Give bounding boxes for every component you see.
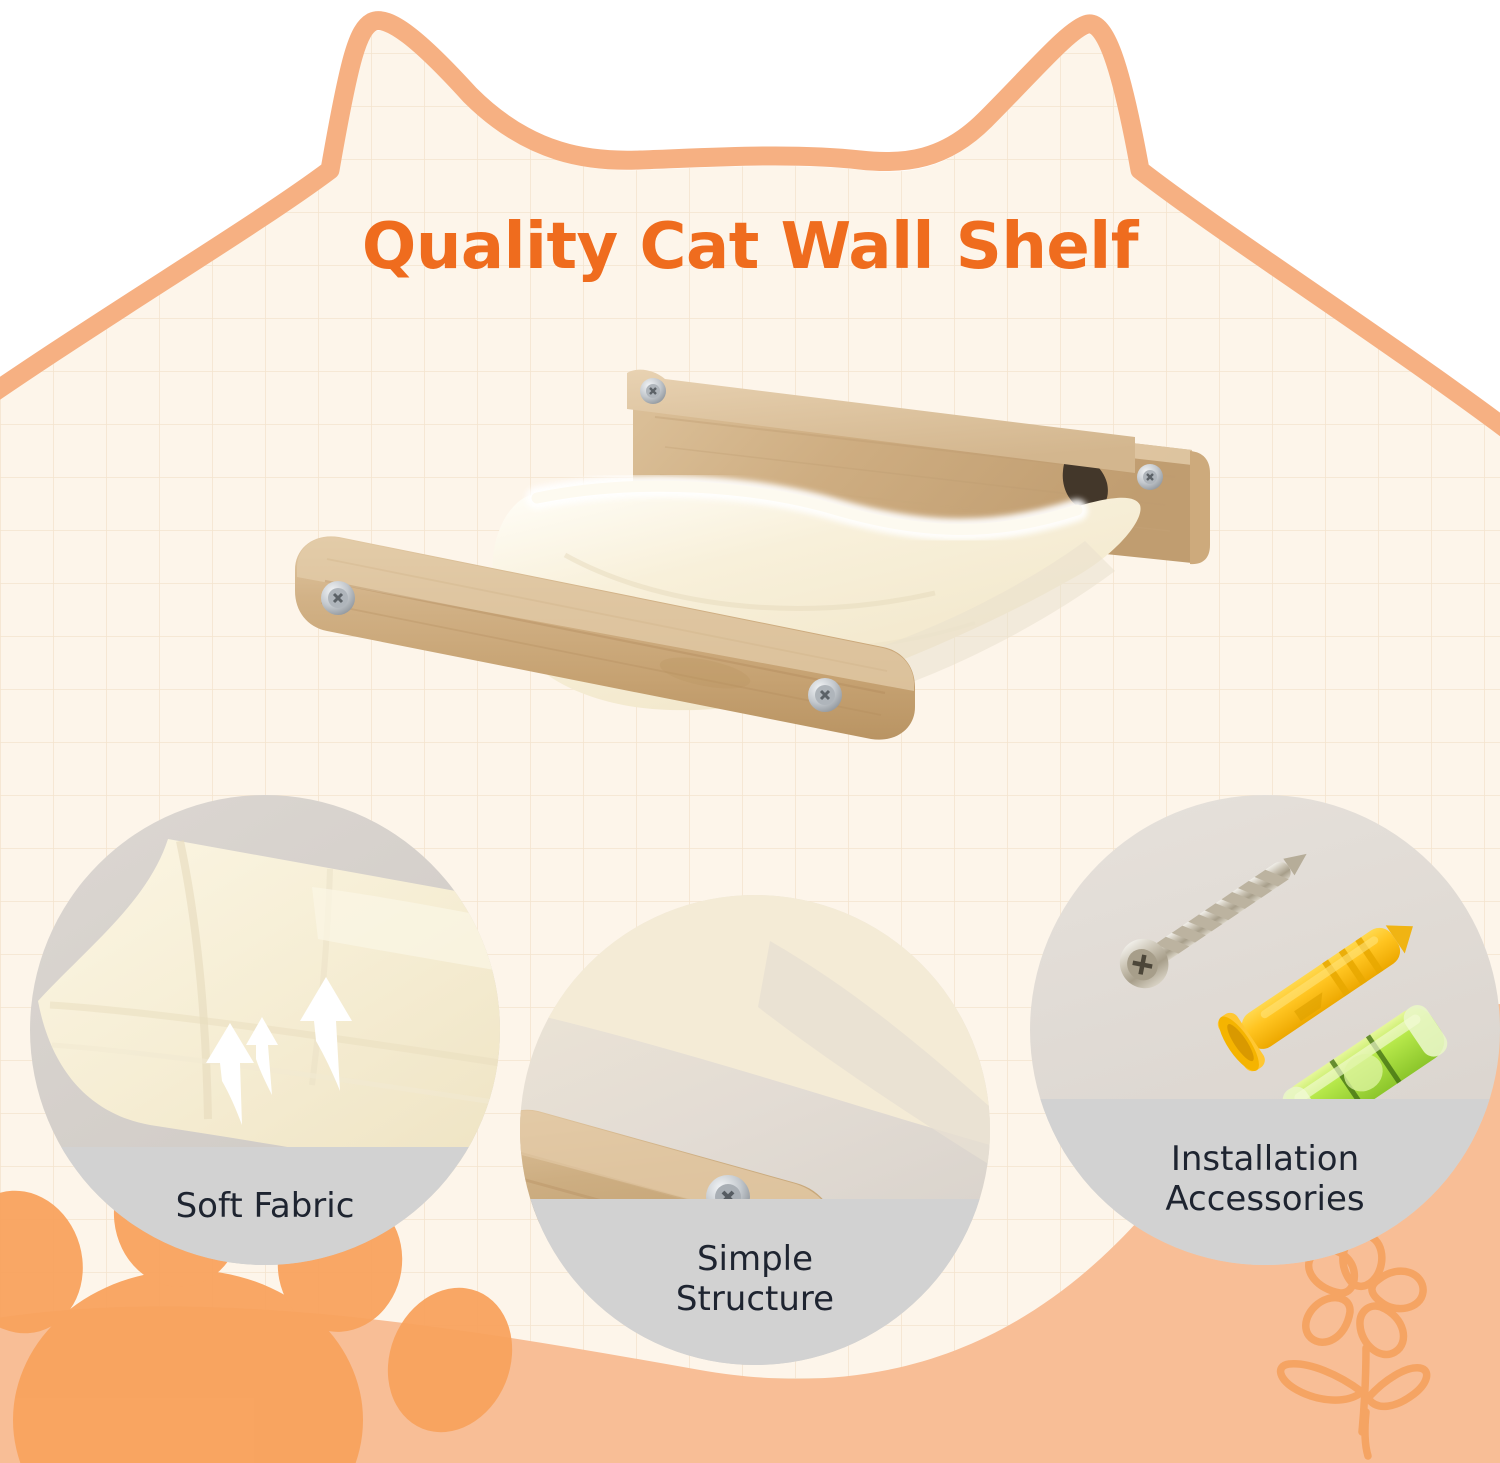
mounting-screw: [640, 378, 666, 404]
mounting-screw: [321, 581, 355, 615]
feature-label-installation-accessories: Installation Accessories: [1030, 1099, 1500, 1265]
feature-card-simple-structure[interactable]: Simple Structure: [520, 895, 990, 1365]
feature-card-installation-accessories[interactable]: Installation Accessories: [1030, 795, 1500, 1265]
page-title: Quality Cat Wall Shelf: [0, 210, 1500, 284]
feature-label-soft-fabric: Soft Fabric: [30, 1147, 500, 1265]
mounting-screw: [808, 678, 842, 712]
product-infographic: Quality Cat Wall Shelf: [0, 0, 1500, 1463]
hero-product-image: [235, 355, 1265, 775]
feature-card-soft-fabric[interactable]: Soft Fabric: [30, 795, 500, 1265]
feature-label-simple-structure: Simple Structure: [520, 1199, 990, 1365]
mounting-screw: [1137, 464, 1163, 490]
